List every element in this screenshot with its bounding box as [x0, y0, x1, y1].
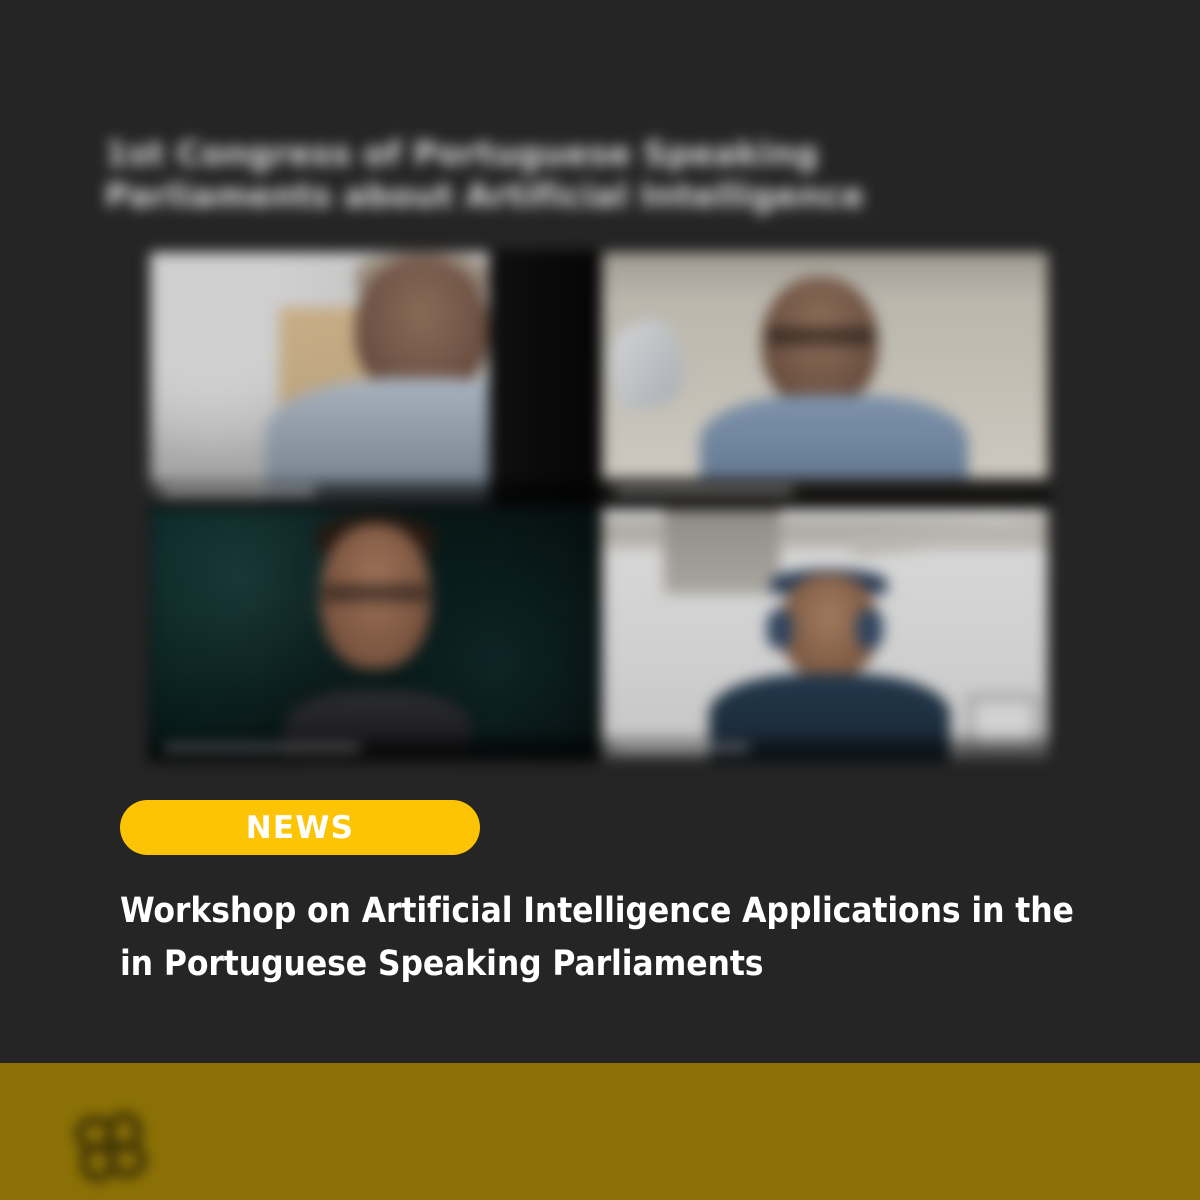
tile-wall-column — [664, 509, 780, 595]
headline-line-1: Workshop on Artificial Intelligence Appl… — [120, 891, 1074, 931]
tile-name-label — [150, 481, 597, 504]
tile-headphone-right-cup — [856, 609, 883, 649]
tile-dark-curtain — [489, 252, 596, 504]
video-tile-top-left — [150, 252, 597, 504]
slide-title-line-1: 1st Congress of Portuguese Speaking — [105, 133, 1025, 175]
tile-name-label — [602, 737, 1049, 760]
tile-name-label — [150, 737, 597, 760]
tile-person-head — [355, 257, 489, 398]
video-call-grid — [148, 250, 1050, 762]
news-card: 1st Congress of Portuguese Speaking Parl… — [0, 0, 1200, 1200]
tile-person-glasses — [767, 327, 874, 345]
tile-headphone-left-cup — [767, 609, 794, 649]
headline-line-2: in Portuguese Speaking Parliaments — [120, 944, 763, 984]
video-tile-bottom-right — [602, 509, 1049, 761]
pinwheel-knot-logo-icon — [62, 1098, 160, 1196]
tile-name-label — [602, 481, 1049, 504]
tile-person-glasses — [324, 584, 427, 602]
slide-title-line-2: Parliaments about Artificial Intelligenc… — [105, 175, 1025, 217]
video-tile-bottom-left — [150, 509, 597, 761]
video-tile-top-right — [602, 252, 1049, 504]
category-badge-news[interactable]: NEWS — [120, 800, 480, 855]
tile-lamp — [602, 316, 690, 414]
category-badge-label: NEWS — [246, 810, 354, 846]
footer-bar — [0, 1063, 1200, 1200]
slide-title: 1st Congress of Portuguese Speaking Parl… — [105, 133, 1025, 217]
event-media-block: 1st Congress of Portuguese Speaking Parl… — [95, 118, 1095, 773]
page-title: Workshop on Artificial Intelligence Appl… — [120, 885, 1090, 991]
